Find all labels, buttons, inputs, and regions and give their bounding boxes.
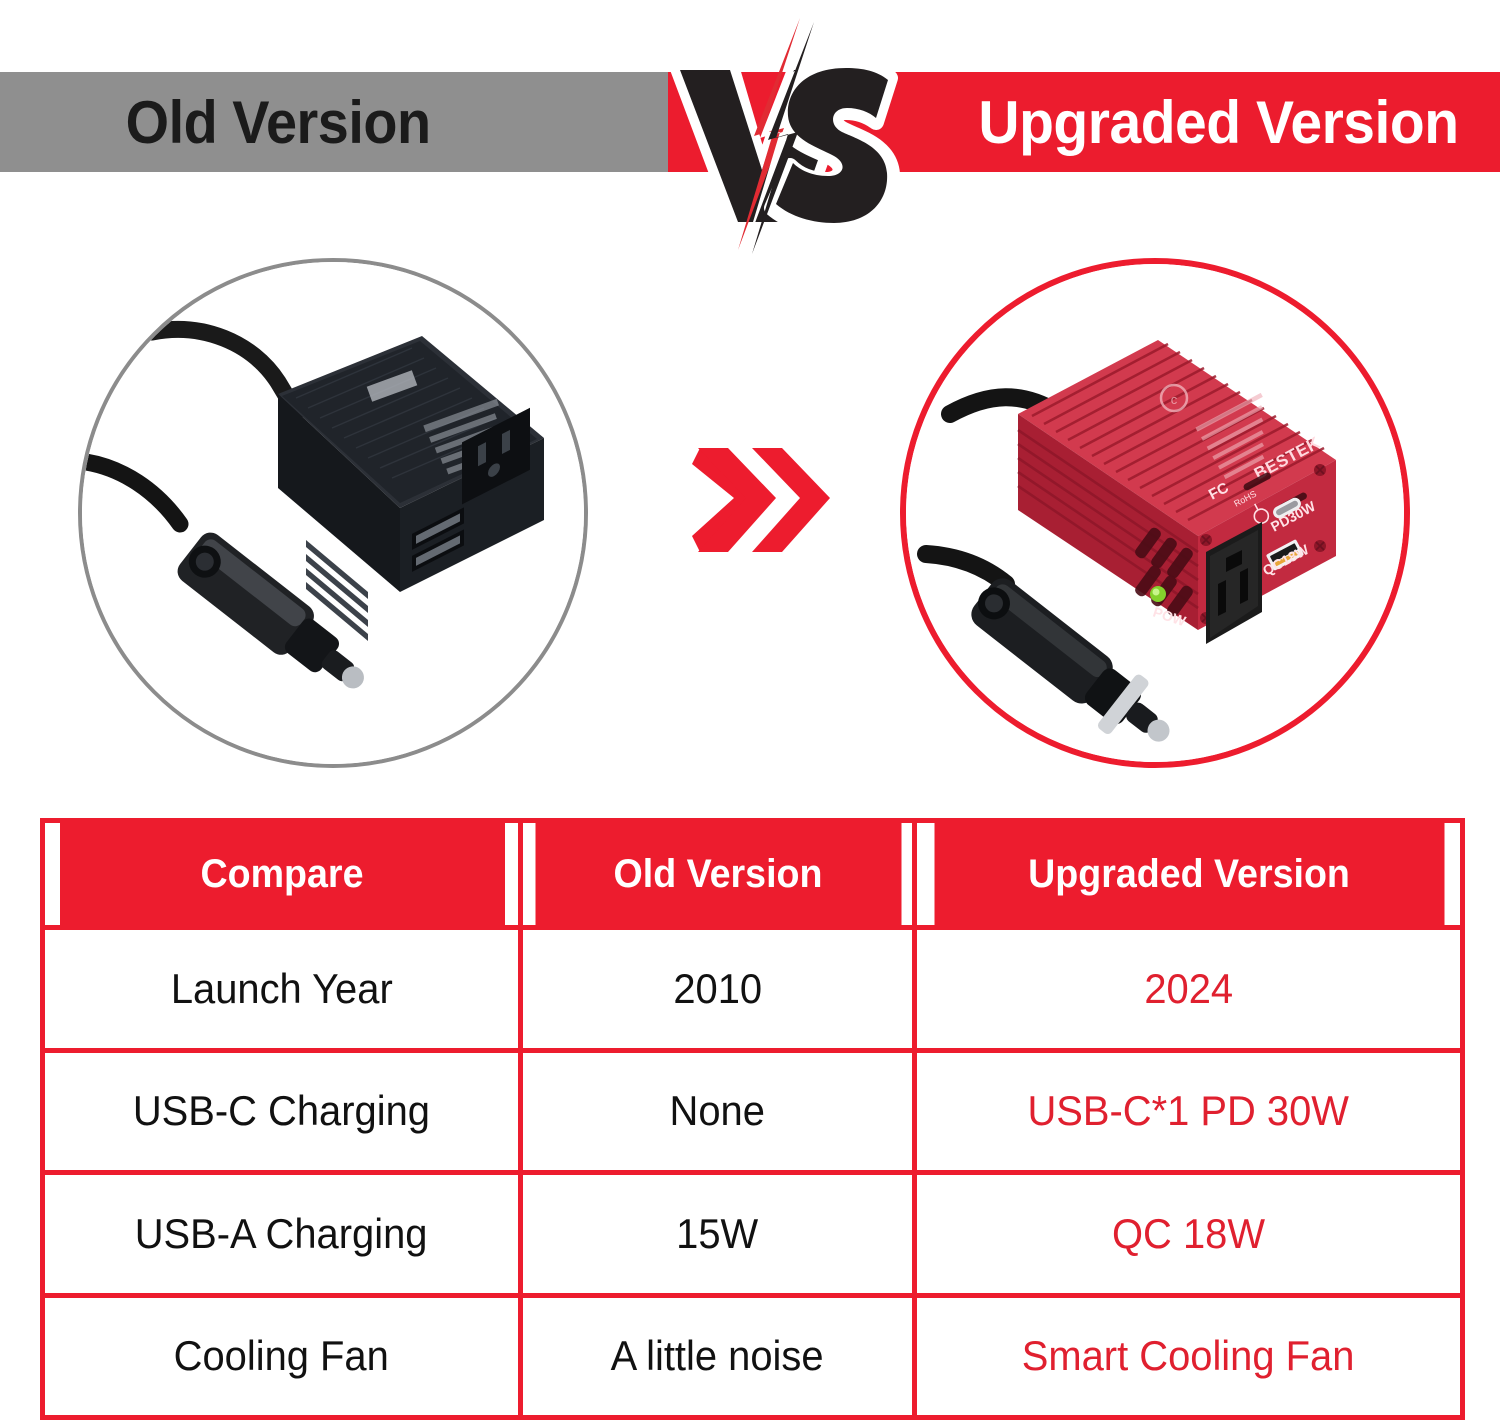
cell-old-value: 2010 bbox=[521, 928, 915, 1051]
old-version-banner-label: Old Version bbox=[126, 88, 543, 157]
upgraded-version-product-image: c BESTEK FC RoHS bbox=[906, 264, 1404, 762]
cell-feature: USB-A Charging bbox=[43, 1173, 521, 1296]
cell-old-value: None bbox=[521, 1050, 915, 1173]
cell-new-value: USB-C*1 PD 30W bbox=[915, 1050, 1463, 1173]
vs-logo-icon bbox=[650, 18, 900, 258]
table-row: USB-C Charging None USB-C*1 PD 30W bbox=[43, 1050, 1463, 1173]
cell-feature: Cooling Fan bbox=[43, 1295, 521, 1418]
upgraded-version-banner-label: Upgraded Version bbox=[978, 88, 1487, 157]
cell-new-value-text: 2024 bbox=[1144, 965, 1233, 1013]
cell-feature-text: USB-C Charging bbox=[133, 1087, 430, 1135]
table-header-old-version: Old Version bbox=[532, 821, 902, 928]
cell-old-value: A little noise bbox=[521, 1295, 915, 1418]
cell-new-value: Smart Cooling Fan bbox=[915, 1295, 1463, 1418]
old-version-banner: Old Version bbox=[0, 72, 668, 172]
table-row: USB-A Charging 15W QC 18W bbox=[43, 1173, 1463, 1296]
cell-old-value-text: 15W bbox=[676, 1210, 758, 1258]
cell-feature-text: USB-A Charging bbox=[135, 1210, 428, 1258]
table-row: Cooling Fan A little noise Smart Cooling… bbox=[43, 1295, 1463, 1418]
cell-feature: USB-C Charging bbox=[43, 1050, 521, 1173]
cell-old-value-text: None bbox=[670, 1087, 765, 1135]
table-header-row: Compare Old Version Upgraded Version bbox=[43, 821, 1463, 928]
svg-text:c: c bbox=[1171, 392, 1178, 407]
cell-new-value-text: QC 18W bbox=[1112, 1210, 1265, 1258]
table-row: Launch Year 2010 2024 bbox=[43, 928, 1463, 1051]
cell-new-value-text: Smart Cooling Fan bbox=[1022, 1332, 1355, 1380]
cell-feature-text: Launch Year bbox=[171, 965, 393, 1013]
cell-feature: Launch Year bbox=[43, 928, 521, 1051]
old-version-product-circle bbox=[78, 258, 588, 768]
double-chevron-right-icon bbox=[690, 440, 830, 560]
cell-new-value-text: USB-C*1 PD 30W bbox=[1028, 1087, 1350, 1135]
cell-new-value: QC 18W bbox=[915, 1173, 1463, 1296]
cell-old-value: 15W bbox=[521, 1173, 915, 1296]
comparison-table: Compare Old Version Upgraded Version Lau… bbox=[40, 818, 1465, 1420]
cell-feature-text: Cooling Fan bbox=[174, 1332, 389, 1380]
table-header-compare: Compare bbox=[57, 821, 506, 928]
cell-old-value-text: 2010 bbox=[673, 965, 762, 1013]
old-version-product-image bbox=[82, 262, 584, 764]
upgraded-version-product-circle: c BESTEK FC RoHS bbox=[900, 258, 1410, 768]
table-header-upgraded-version: Upgraded Version bbox=[931, 821, 1446, 928]
cell-old-value-text: A little noise bbox=[611, 1332, 824, 1380]
cell-new-value: 2024 bbox=[915, 928, 1463, 1051]
